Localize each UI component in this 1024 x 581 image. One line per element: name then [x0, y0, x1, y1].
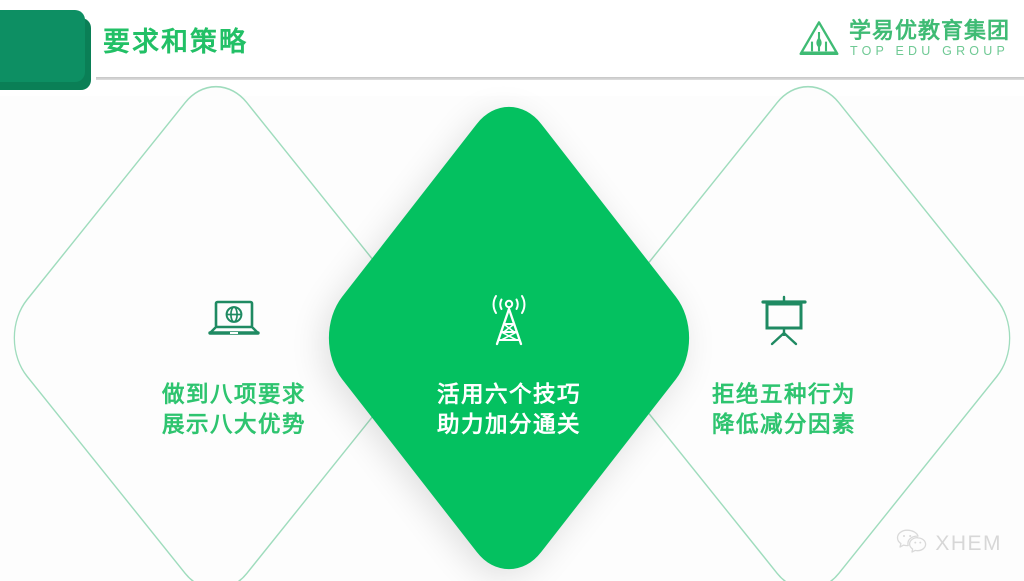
card-line1: 做到八项要求 — [84, 380, 384, 410]
slide-header: 要求和策略 学易优教育集团 TOP EDU GROUP — [0, 0, 1024, 96]
card-requirements[interactable]: 做到八项要求 展示八大优势 — [84, 292, 384, 440]
brand-logo-text: 学易优教育集团 TOP EDU GROUP — [849, 20, 1010, 58]
slide-canvas: 要求和策略 学易优教育集团 TOP EDU GROUP — [0, 0, 1024, 581]
card-line2: 降低减分因素 — [634, 410, 934, 440]
header-divider — [96, 77, 1024, 80]
presentation-board-icon — [634, 292, 934, 350]
mountain-triangle-icon — [798, 18, 840, 60]
page-title: 要求和策略 — [103, 24, 248, 60]
header-tab-block — [0, 10, 85, 82]
brand-name-en: TOP EDU GROUP — [850, 45, 1009, 58]
watermark: XHEM — [896, 528, 1002, 559]
card-line1: 拒绝五种行为 — [634, 380, 934, 410]
card-behaviors[interactable]: 拒绝五种行为 降低减分因素 — [634, 292, 934, 440]
broadcast-tower-icon — [359, 292, 659, 350]
diagram-stage: 做到八项要求 展示八大优势 活用六个技巧 助力加分通关 — [0, 96, 1024, 581]
brand-logo: 学易优教育集团 TOP EDU GROUP — [798, 18, 1010, 60]
brand-name-cn: 学易优教育集团 — [849, 20, 1010, 42]
card-line2: 展示八大优势 — [84, 410, 384, 440]
wechat-icon — [896, 528, 928, 559]
card-techniques[interactable]: 活用六个技巧 助力加分通关 — [359, 292, 659, 440]
card-line2: 助力加分通关 — [359, 410, 659, 440]
watermark-label: XHEM — [935, 532, 1002, 556]
card-line1: 活用六个技巧 — [359, 380, 659, 410]
laptop-globe-icon — [84, 292, 384, 350]
